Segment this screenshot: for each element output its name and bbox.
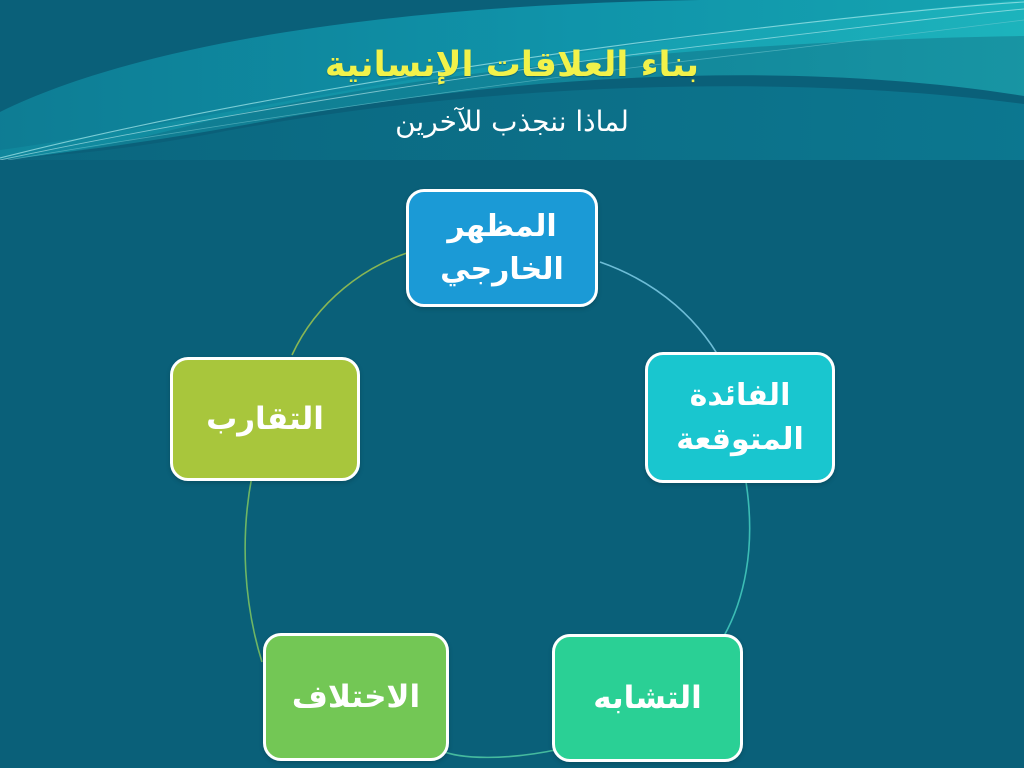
- title-block: بناء العلاقات الإنسانية لماذا ننجذب للآخ…: [0, 44, 1024, 139]
- arc-difference-to-proximity: [245, 476, 262, 662]
- cycle-node-similarity[interactable]: التشابه: [552, 634, 743, 762]
- arc-proximity-to-appearance: [292, 249, 420, 355]
- cycle-node-proximity[interactable]: التقارب: [170, 357, 360, 481]
- slide-canvas: بناء العلاقات الإنسانية لماذا ننجذب للآخ…: [0, 0, 1024, 768]
- cycle-node-difference-line-1: الاختلاف: [292, 677, 420, 718]
- cycle-node-similarity-line-1: التشابه: [593, 678, 702, 719]
- cycle-node-appearance-line-2: الخارجي: [440, 248, 564, 292]
- page-title: بناء العلاقات الإنسانية: [0, 44, 1024, 88]
- page-subtitle: لماذا ننجذب للآخرين: [0, 104, 1024, 139]
- cycle-node-proximity-line-1: التقارب: [206, 399, 324, 440]
- cycle-node-difference[interactable]: الاختلاف: [263, 633, 449, 761]
- arc-similarity-to-difference: [440, 749, 560, 757]
- cycle-node-appearance[interactable]: المظهر الخارجي: [406, 189, 598, 307]
- cycle-node-benefit-line-2: المتوقعة: [676, 418, 804, 462]
- cycle-node-benefit-line-1: الفائدة: [690, 374, 791, 418]
- cycle-node-benefit[interactable]: الفائدة المتوقعة: [645, 352, 835, 483]
- cycle-node-appearance-line-1: المظهر: [447, 205, 556, 249]
- arc-benefit-to-similarity: [718, 476, 750, 646]
